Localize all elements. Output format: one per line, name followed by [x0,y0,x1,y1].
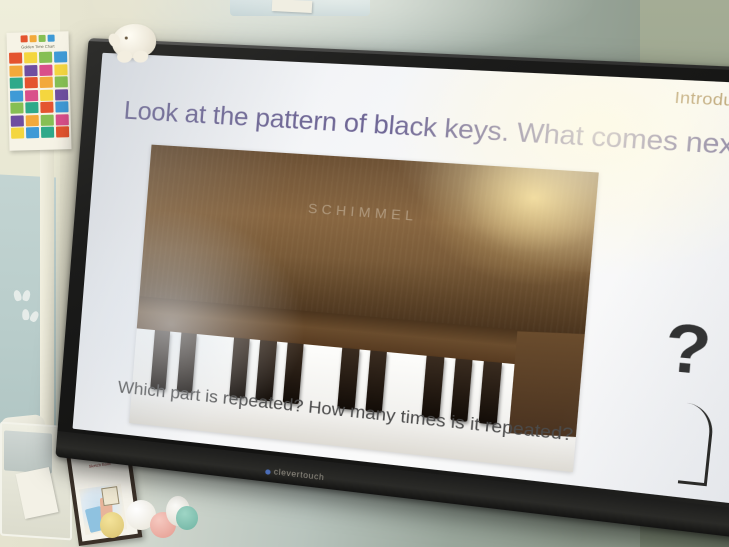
classroom-photo: Golden Time Chart Sketch Book [0,0,729,547]
classroom-poster: Golden Time Chart [6,31,71,151]
plush-toy [176,506,198,530]
butterfly-decoration-icon [14,290,30,302]
brand-dot-icon [265,469,271,475]
display-brand: clevertouch [273,467,324,482]
plush-toy [100,512,124,538]
ceiling-paper [272,0,313,13]
question-mark: ? [662,314,714,387]
poster-color-grid [7,49,71,141]
slide-kicker: Introduction [674,89,729,113]
